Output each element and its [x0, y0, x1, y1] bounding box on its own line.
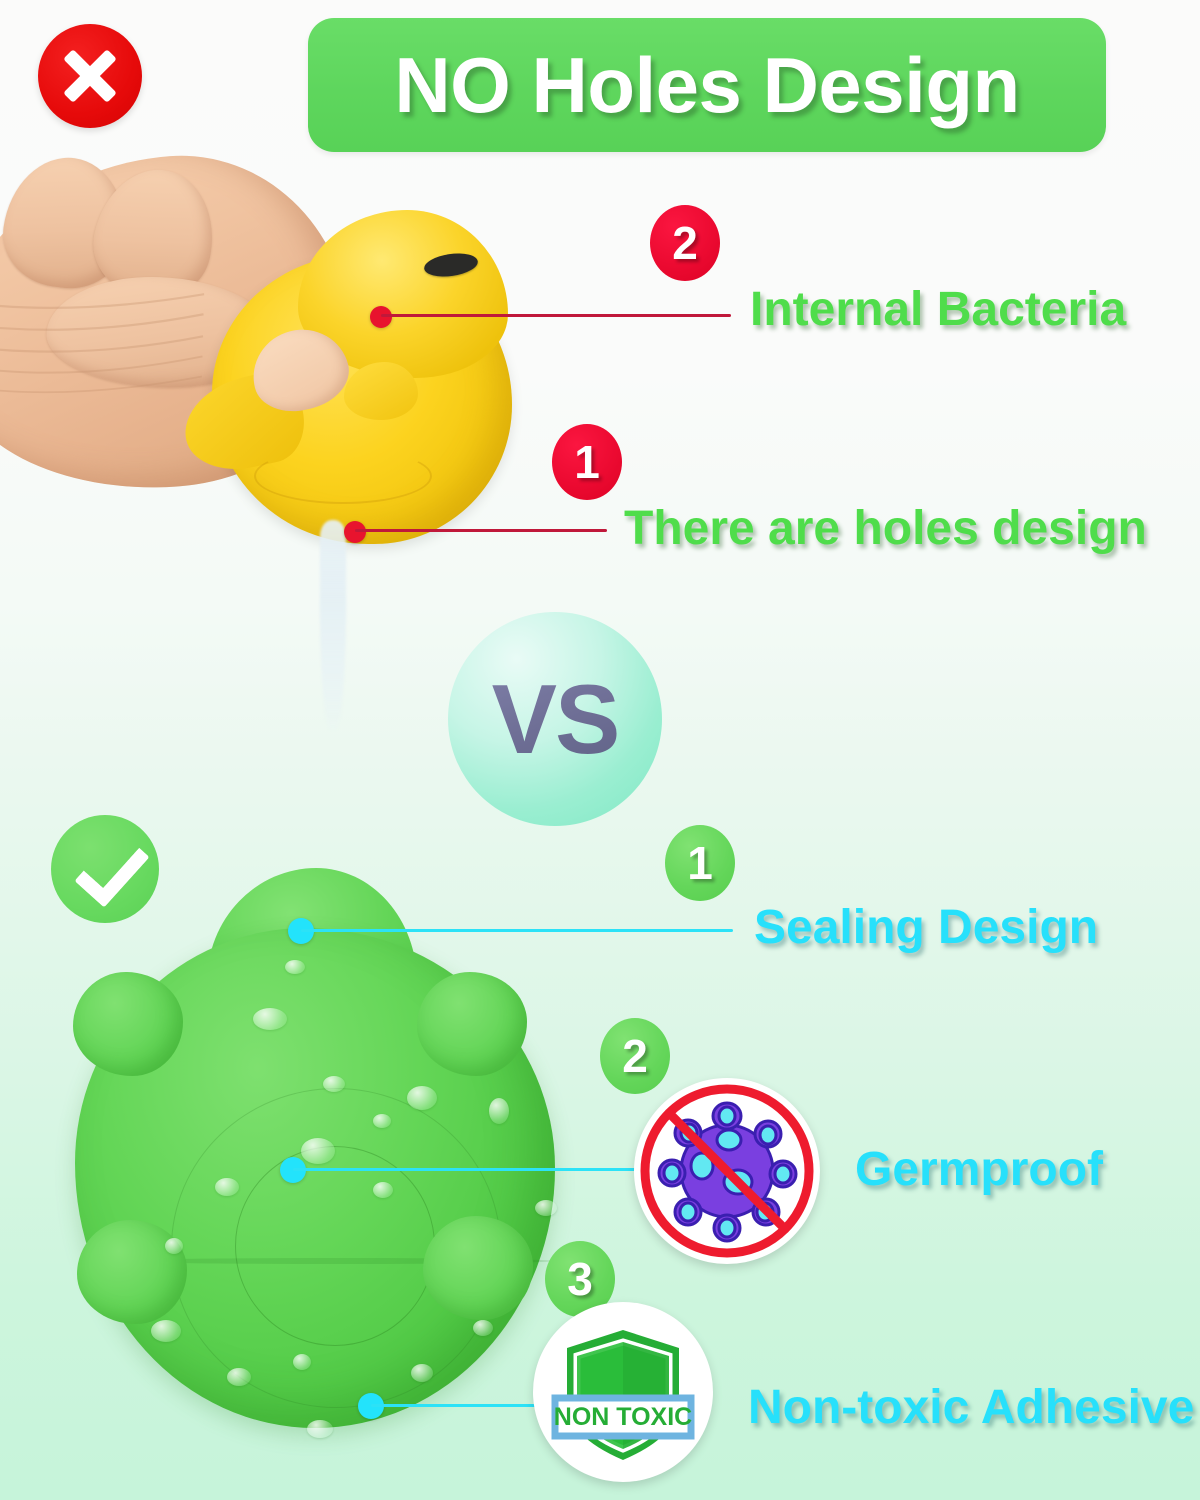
water-droplet	[535, 1200, 557, 1216]
water-droplet	[373, 1182, 393, 1198]
callout-label-sealing-design: Sealing Design	[754, 900, 1098, 955]
non-toxic-text: NON TOXIC	[554, 1403, 692, 1431]
callout-line-holes-design	[355, 529, 607, 532]
vs-divider: VS	[448, 612, 662, 826]
water-droplet	[301, 1138, 335, 1164]
callout-label-holes-design: There are holes design	[624, 501, 1147, 556]
water-droplet	[227, 1368, 251, 1386]
water-droplet	[411, 1364, 433, 1382]
water-droplet	[293, 1354, 311, 1370]
toy-foot	[77, 1220, 187, 1324]
callout-line-internal-bacteria	[381, 314, 731, 317]
callout-line-germproof	[293, 1168, 645, 1171]
toy-sealing-disc	[235, 1146, 435, 1346]
callout-badge-1-bottom: 1	[665, 825, 735, 901]
water-droplet	[323, 1076, 345, 1092]
water-droplet	[473, 1320, 493, 1336]
duck-belly-seam	[254, 448, 432, 504]
page-title: NO Holes Design	[394, 40, 1019, 131]
toy-foot	[423, 1216, 533, 1320]
callout-badge-2-top: 2	[650, 205, 720, 281]
water-droplet	[165, 1238, 183, 1254]
palm-crease-lines	[0, 264, 219, 412]
water-droplet	[215, 1178, 239, 1196]
callout-line-sealing-design	[301, 929, 733, 932]
water-stream	[320, 520, 346, 730]
water-droplet	[489, 1098, 509, 1124]
toy-foot	[73, 972, 183, 1076]
x-mark-icon	[38, 24, 142, 128]
callout-dot-internal-bacteria	[370, 306, 392, 328]
water-droplet	[151, 1320, 181, 1342]
water-droplet	[253, 1008, 287, 1030]
hand-squeezing-duck-photo	[0, 150, 550, 670]
callout-label-non-toxic: Non-toxic Adhesive	[748, 1380, 1194, 1435]
callout-dot-holes-design	[344, 521, 366, 543]
toy-foot	[417, 972, 527, 1076]
callout-line-non-toxic	[371, 1404, 551, 1407]
callout-label-internal-bacteria: Internal Bacteria	[750, 282, 1126, 337]
no-germs-icon	[634, 1078, 820, 1264]
vs-label: VS	[492, 663, 619, 776]
callout-label-germproof: Germproof	[855, 1142, 1103, 1197]
water-droplet	[285, 960, 305, 974]
callout-badge-1-top: 1	[552, 424, 622, 500]
water-droplet	[307, 1420, 333, 1438]
water-droplet	[373, 1114, 391, 1128]
water-droplet	[407, 1086, 437, 1110]
page-title-banner: NO Holes Design	[308, 18, 1106, 152]
non-toxic-shield-icon: NON TOXIC	[533, 1302, 713, 1482]
